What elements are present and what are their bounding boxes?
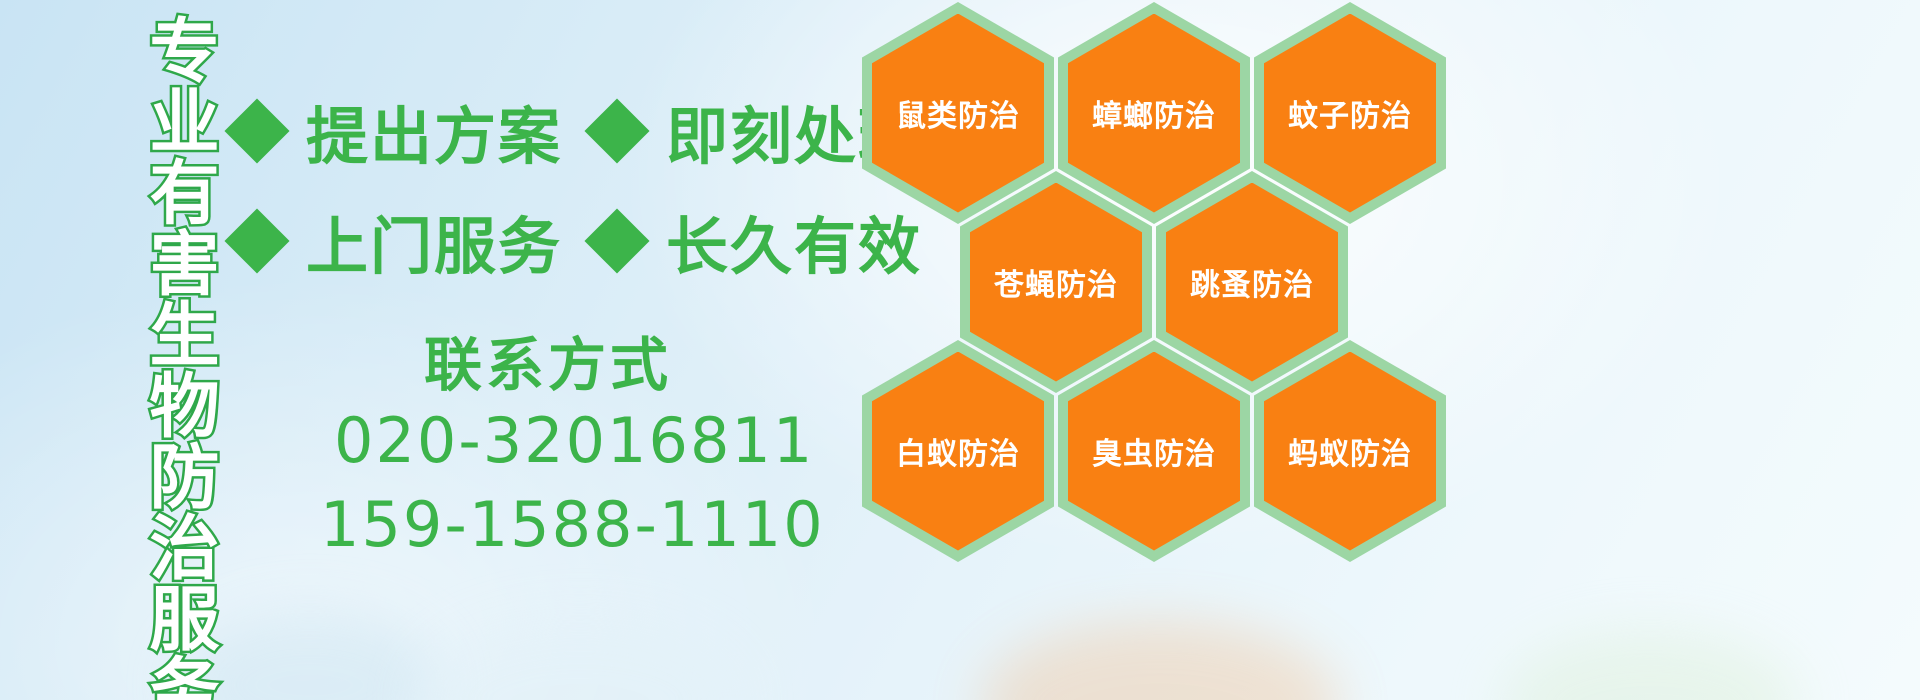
- background-blob-left-2: [420, 620, 740, 700]
- diamond-icon: [224, 98, 289, 163]
- background-blob-orange: [980, 620, 1340, 700]
- hex-inner: 蟑螂防治: [1068, 14, 1240, 213]
- background-blob-green: [1500, 630, 1800, 700]
- service-honeycomb: 鼠类防治 蟑螂防治 蚊子防治 苍蝇防治 跳蚤防治 白蚁防治: [862, 0, 1462, 546]
- service-label: 苍蝇防治: [994, 260, 1118, 304]
- hex-inner: 蚂蚁防治: [1264, 352, 1436, 551]
- hex-inner: 跳蚤防治: [1166, 183, 1338, 382]
- hex-inner: 臭虫防治: [1068, 352, 1240, 551]
- background-blob-left: [180, 610, 440, 700]
- feature-item-onsite-service: 上门服务: [306, 196, 562, 286]
- service-label: 鼠类防治: [896, 91, 1020, 135]
- hex-inner: 苍蝇防治: [970, 183, 1142, 382]
- feature-line-2: 上门服务 长久有效: [232, 196, 922, 286]
- service-label: 臭虫防治: [1092, 429, 1216, 473]
- service-label: 蚊子防治: [1288, 91, 1412, 135]
- contact-phone-mobile[interactable]: 159-1588-1110: [320, 488, 825, 561]
- banner-stage: 专业有害生物防治服务 提出方案 即刻处理 上门服务 长久有效 联系方式 020-…: [0, 0, 1920, 700]
- diamond-icon: [584, 98, 649, 163]
- hex-inner: 蚊子防治: [1264, 14, 1436, 213]
- vertical-headline: 专业有害生物防治服务: [104, 14, 214, 700]
- hex-inner: 鼠类防治: [872, 14, 1044, 213]
- diamond-icon: [224, 208, 289, 273]
- contact-title: 联系方式: [424, 318, 672, 402]
- service-label: 白蚁防治: [896, 429, 1020, 473]
- hex-inner: 白蚁防治: [872, 352, 1044, 551]
- service-label: 蚂蚁防治: [1288, 429, 1412, 473]
- feature-item-propose-plan: 提出方案: [306, 86, 562, 176]
- diamond-icon: [584, 208, 649, 273]
- service-label: 跳蚤防治: [1190, 260, 1314, 304]
- feature-line-1: 提出方案 即刻处理: [232, 86, 922, 176]
- service-label: 蟑螂防治: [1092, 91, 1216, 135]
- contact-phone-landline[interactable]: 020-32016811: [334, 404, 814, 477]
